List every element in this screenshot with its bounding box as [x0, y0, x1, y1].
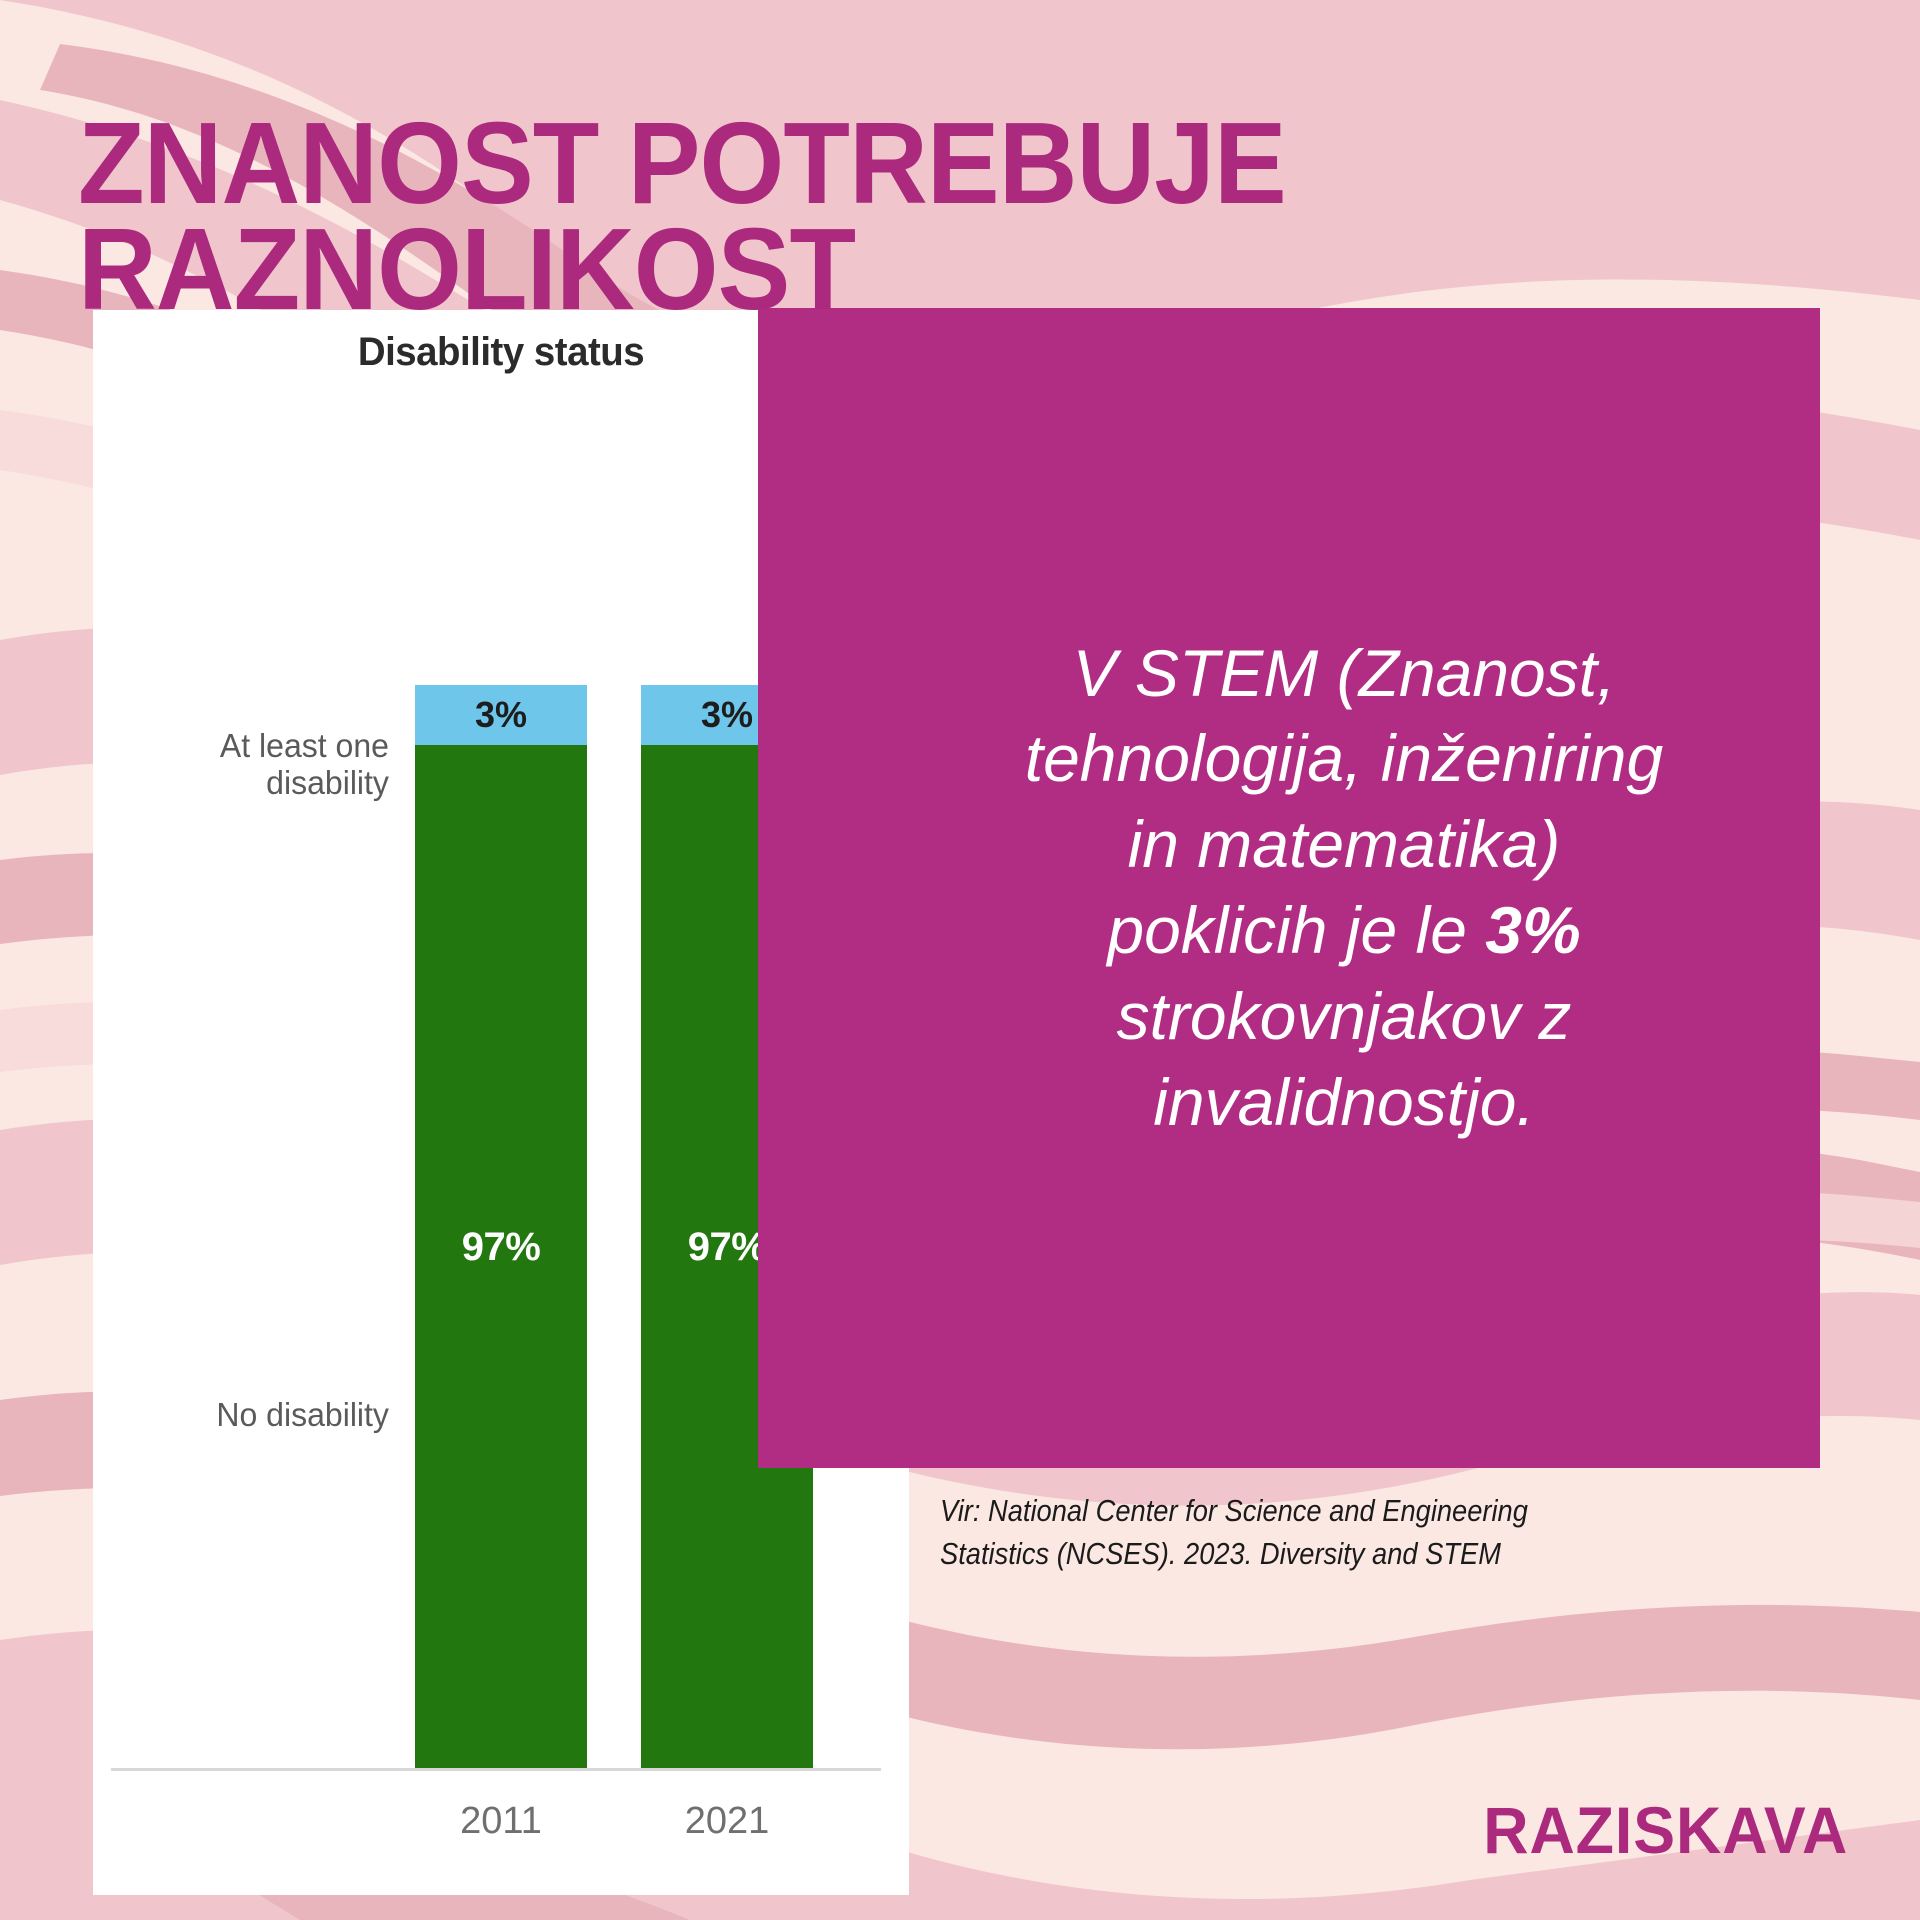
brand-label: RAZISKAVA — [1483, 1792, 1848, 1868]
bar-segment-disability-2011: 3% — [415, 685, 587, 745]
statement-panel: V STEM (Znanost, tehnologija, inženiring… — [758, 308, 1820, 1468]
statement-text: V STEM (Znanost, tehnologija, inženiring… — [954, 631, 1734, 1146]
statement-line-6: invalidnostjo. — [1153, 1065, 1535, 1139]
statement-line-5: strokovnjakov z — [1117, 979, 1572, 1053]
source-citation: Vir: National Center for Science and Eng… — [940, 1490, 1732, 1576]
page-title: ZNANOST POTREBUJE RAZNOLIKOST — [78, 110, 1300, 323]
statement-line-4: poklicih je le — [1107, 893, 1485, 967]
statement-line-3: in matematika) — [1128, 807, 1561, 881]
x-axis-tick-2021: 2021 — [627, 1800, 827, 1843]
bar-segment-no-disability-2011: 97% — [415, 745, 587, 1768]
bar-value-no-disability-2011: 97% — [415, 1225, 587, 1270]
chart-x-axis — [111, 1768, 881, 1771]
x-axis-tick-2011: 2011 — [401, 1800, 601, 1843]
bar-value-disability-2011: 3% — [475, 694, 527, 736]
source-line-2: Statistics (NCSES). 2023. Diversity and … — [940, 1533, 1732, 1576]
bar-value-disability-2021: 3% — [701, 694, 753, 736]
statement-line-1: V STEM (Znanost, — [1073, 636, 1616, 710]
statement-highlight-percent: 3% — [1485, 893, 1580, 967]
source-line-1: Vir: National Center for Science and Eng… — [940, 1490, 1732, 1533]
statement-line-2: tehnologija, inženiring — [1025, 721, 1663, 795]
